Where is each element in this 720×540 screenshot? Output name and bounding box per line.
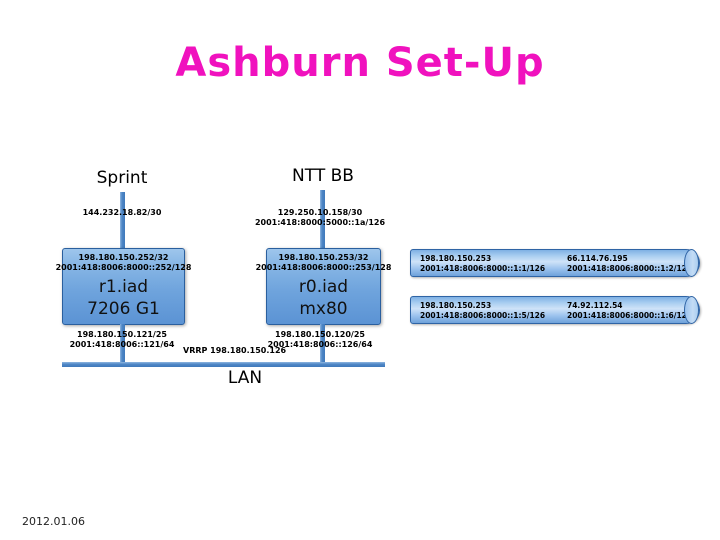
provider-label-sprint: Sprint <box>60 168 184 188</box>
annotation-sprint-link: 144.232.18.82/30 <box>42 208 202 218</box>
peering-pipe-1-far: 66.114.76.195 2001:418:8006:8000::1:2/12… <box>567 254 692 274</box>
peering-pipe-1[interactable]: 198.180.150.253 2001:418:8006:8000::1:1/… <box>410 249 700 277</box>
router-r0-loopback: 198.180.150.253/32 2001:418:8006:8000::2… <box>241 253 406 273</box>
lan-bus-bar <box>62 362 385 367</box>
peering-pipe-1-near-ipv4: 198.180.150.253 <box>420 254 545 264</box>
router-r0-identity: r0.iad mx80 <box>267 276 380 320</box>
router-r1-hostname: r1.iad <box>63 276 184 298</box>
peering-pipe-2-near-ipv6: 2001:418:8006:8000::1:5/126 <box>420 311 545 321</box>
peering-pipe-2[interactable]: 198.180.150.253 2001:418:8006:8000::1:5/… <box>410 296 700 324</box>
router-r1-loopback-ipv4: 198.180.150.252/32 <box>37 253 210 263</box>
router-r1-model: 7206 G1 <box>63 298 184 320</box>
router-r0-lan-ipv4: 198.180.150.120/25 <box>240 330 400 340</box>
annotation-ntt-link: 129.250.10.158/30 2001:418:8000:5000::1a… <box>240 208 400 228</box>
router-r1-loopback: 198.180.150.252/32 2001:418:8006:8000::2… <box>37 253 210 273</box>
router-r1-loopback-ipv6: 2001:418:8006:8000::252/128 <box>37 263 210 273</box>
peering-pipe-2-end-cap <box>684 296 699 324</box>
peering-pipe-2-far-ipv4: 74.92.112.54 <box>567 301 692 311</box>
peering-pipe-2-far: 74.92.112.54 2001:418:8006:8000::1:6/126 <box>567 301 692 321</box>
router-r0-loopback-ipv4: 198.180.150.253/32 <box>241 253 406 263</box>
peering-pipe-1-near-ipv6: 2001:418:8006:8000::1:1/126 <box>420 264 545 274</box>
router-node-r1-iad[interactable]: 198.180.150.252/32 2001:418:8006:8000::2… <box>62 248 185 325</box>
router-r1-lan-ipv6: 2001:418:8006::121/64 <box>42 340 202 350</box>
router-r0-loopback-ipv6: 2001:418:8006:8000::253/128 <box>241 263 406 273</box>
slide-canvas: Ashburn Set-Up Sprint NTT BB 144.232.18.… <box>0 0 720 540</box>
router-r1-lan-ipv4: 198.180.150.121/25 <box>42 330 202 340</box>
annotation-r1-lan: 198.180.150.121/25 2001:418:8006::121/64 <box>42 330 202 350</box>
peering-pipe-1-far-ipv6: 2001:418:8006:8000::1:2/126 <box>567 264 692 274</box>
router-r0-model: mx80 <box>267 298 380 320</box>
uplink-line-sprint <box>120 192 125 250</box>
peering-pipe-2-near-ipv4: 198.180.150.253 <box>420 301 545 311</box>
peering-pipe-1-far-ipv4: 66.114.76.195 <box>567 254 692 264</box>
ntt-link-ipv4: 129.250.10.158/30 <box>240 208 400 218</box>
peering-pipe-1-end-cap <box>684 249 699 277</box>
peering-pipe-1-near: 198.180.150.253 2001:418:8006:8000::1:1/… <box>420 254 545 274</box>
annotation-vrrp: VRRP 198.180.150.126 <box>183 346 323 356</box>
router-r0-hostname: r0.iad <box>267 276 380 298</box>
provider-label-ntt: NTT BB <box>262 166 384 186</box>
peering-pipe-2-near: 198.180.150.253 2001:418:8006:8000::1:5/… <box>420 301 545 321</box>
peering-pipe-2-far-ipv6: 2001:418:8006:8000::1:6/126 <box>567 311 692 321</box>
router-r1-identity: r1.iad 7206 G1 <box>63 276 184 320</box>
ntt-link-ipv6: 2001:418:8000:5000::1a/126 <box>240 218 400 228</box>
page-title: Ashburn Set-Up <box>0 40 720 86</box>
sprint-link-ipv4: 144.232.18.82/30 <box>42 208 202 218</box>
lan-label: LAN <box>200 368 290 388</box>
router-node-r0-iad[interactable]: 198.180.150.253/32 2001:418:8006:8000::2… <box>266 248 381 325</box>
footer-date: 2012.01.06 <box>22 515 85 528</box>
